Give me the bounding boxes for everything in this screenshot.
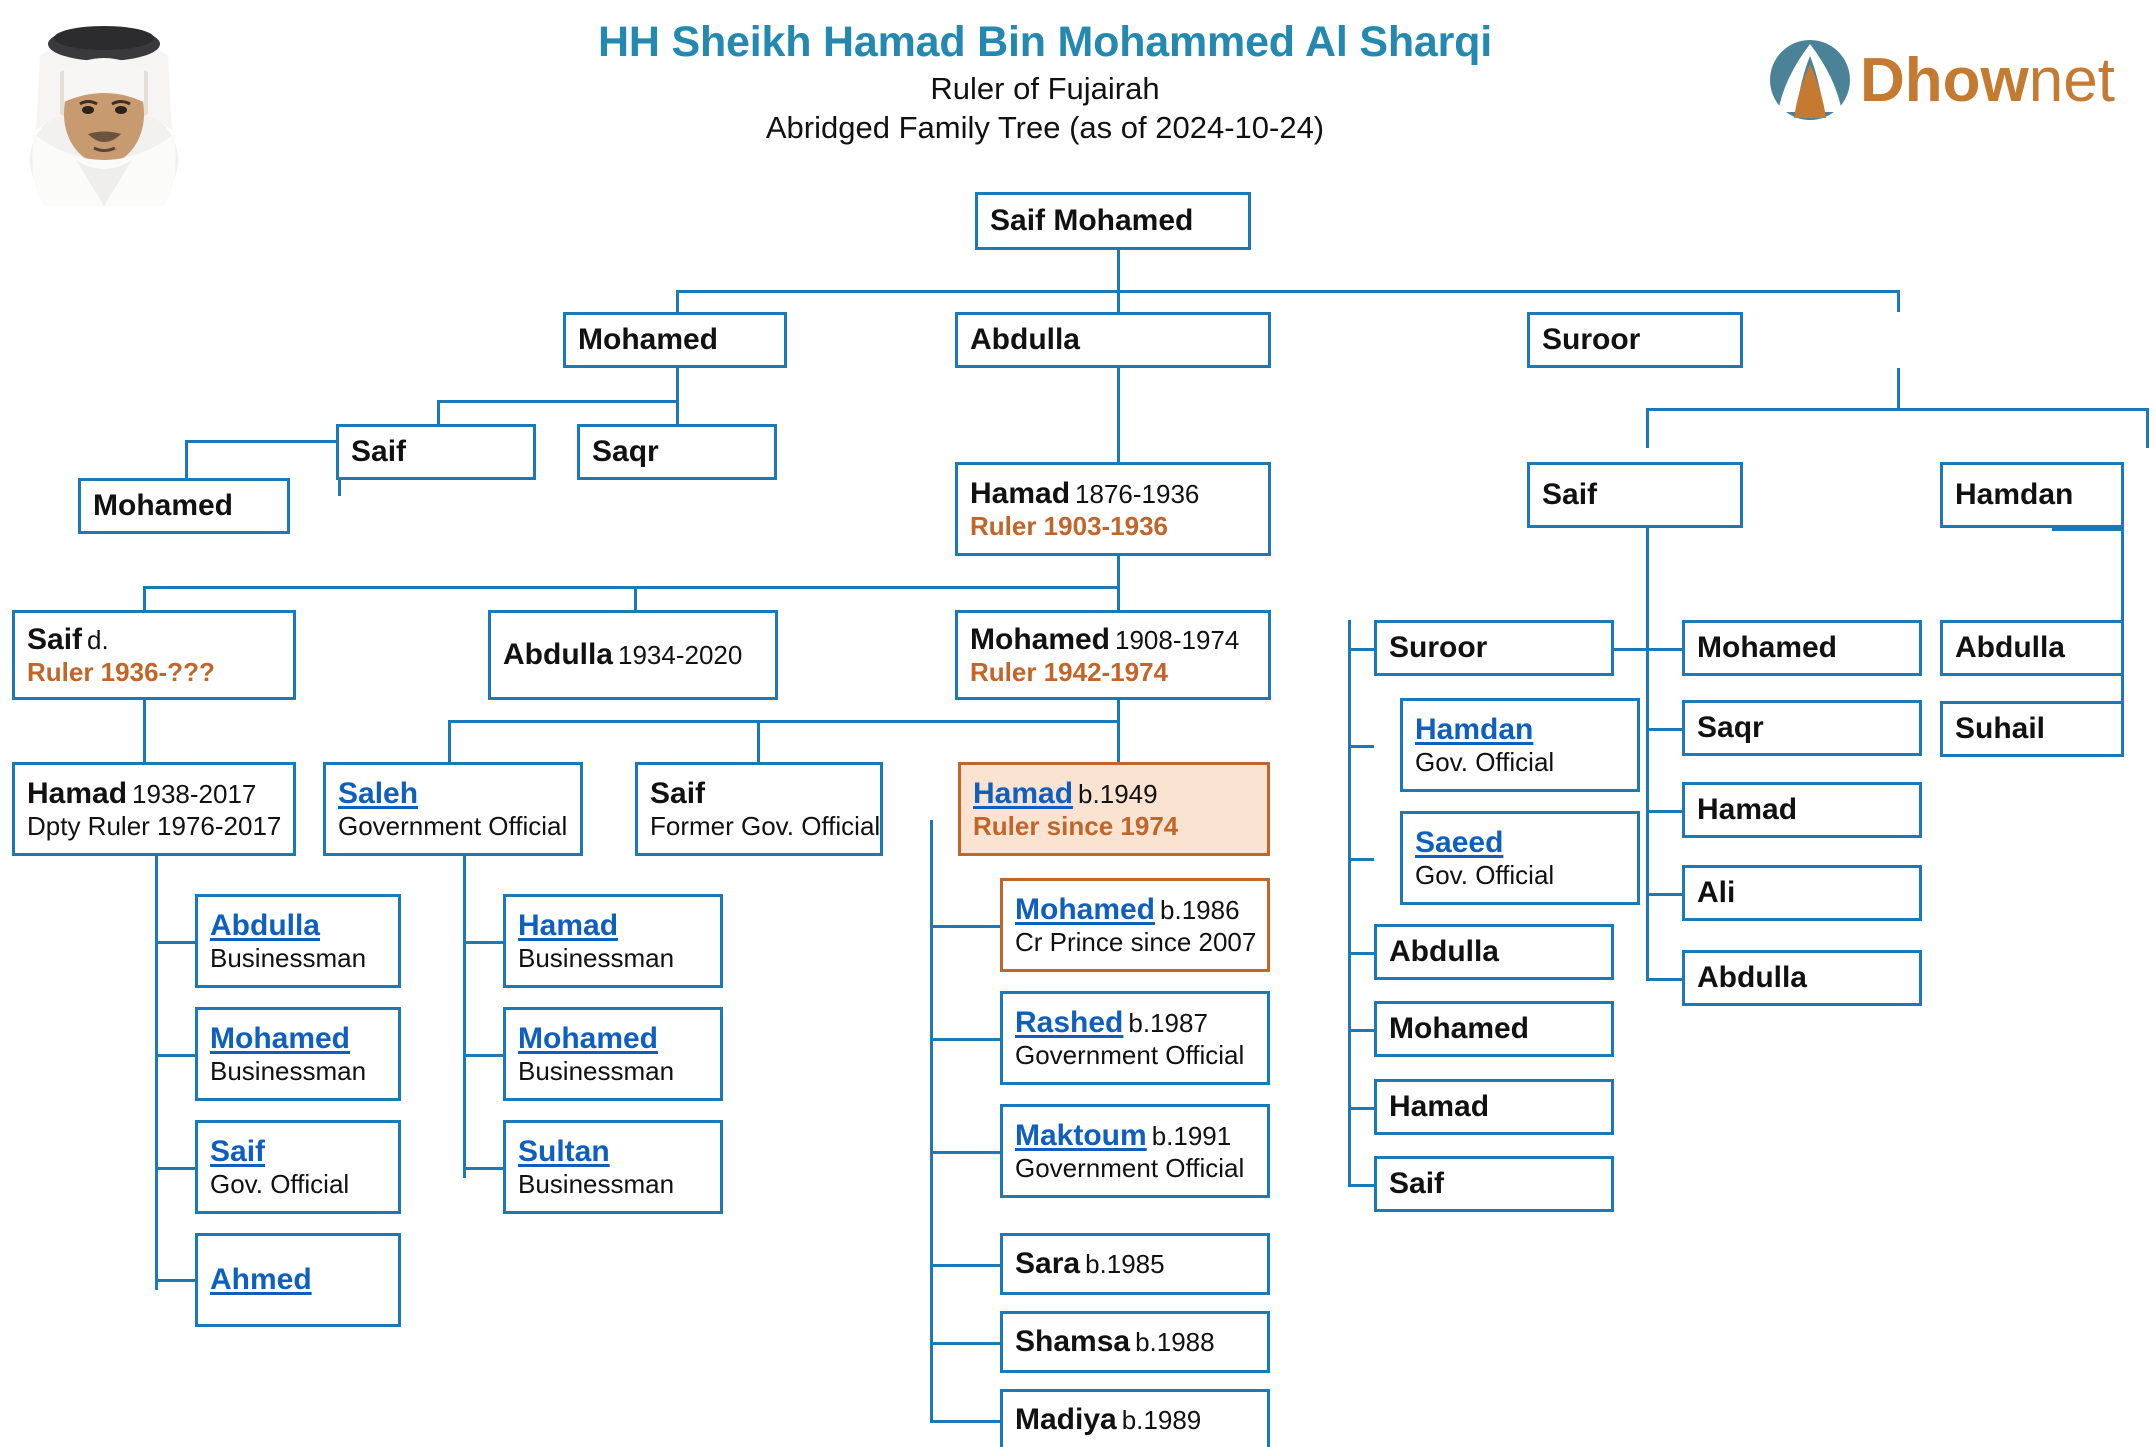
connector (2146, 408, 2149, 448)
node-name: Saif (650, 777, 705, 810)
connector (463, 1054, 503, 1057)
node-name[interactable]: Hamad (973, 777, 1073, 810)
connector (1117, 250, 1120, 292)
node-saeed-gov-official[interactable]: Saeed Gov. Official (1400, 811, 1640, 905)
connector (1646, 408, 2146, 411)
connector (634, 586, 637, 610)
connector (1348, 858, 1374, 861)
node-hamdan-suroor-branch[interactable]: Hamdan (1940, 462, 2124, 528)
connector (930, 925, 1000, 928)
connector (143, 586, 1119, 589)
node-occupation: Government Official (1015, 1153, 1244, 1183)
node-sara[interactable]: Sarab.1985 (1000, 1233, 1270, 1295)
connector (437, 400, 679, 403)
node-occupation: Businessman (518, 943, 674, 973)
node-hamad-businessman[interactable]: Hamad Businessman (503, 894, 723, 988)
connector (143, 586, 146, 610)
node-mohamed-1908[interactable]: Mohamed1908-1974 Ruler 1942-1974 (955, 610, 1271, 700)
node-name: Saif (351, 435, 406, 468)
node-name[interactable]: Hamdan (1415, 713, 1533, 746)
node-name: Hamad (27, 777, 127, 810)
connector (676, 290, 679, 312)
node-name: Mohamed (1697, 631, 1837, 664)
connector (463, 856, 466, 1178)
page-subtitle-date: Abridged Family Tree (as of 2024-10-24) (330, 109, 1760, 148)
node-occupation: Government Official (338, 811, 567, 841)
connector (1117, 290, 1120, 312)
node-name[interactable]: Mohamed (518, 1022, 658, 1055)
connector (930, 1264, 1000, 1267)
node-saqr-right-2[interactable]: Saqr (1682, 700, 1922, 756)
family-tree-canvas: HH Sheikh Hamad Bin Mohammed Al Sharqi R… (0, 0, 2156, 1447)
connector (757, 720, 760, 762)
node-mohamed-businessman[interactable]: Mohamed Businessman (195, 1007, 401, 1101)
connector (1348, 1029, 1374, 1032)
node-name[interactable]: Saleh (338, 777, 418, 810)
node-name: Suroor (1542, 323, 1640, 356)
node-role: Ruler 1903-1936 (970, 511, 1168, 541)
node-years: b.1991 (1152, 1121, 1232, 1151)
connector (1646, 648, 1649, 980)
node-years: b.1985 (1085, 1249, 1165, 1279)
connector (448, 720, 451, 762)
node-name: Abdulla (1389, 935, 1499, 968)
node-abdulla-right-5[interactable]: Abdulla (1682, 950, 1922, 1006)
connector (1646, 978, 1682, 981)
connector (1897, 368, 1900, 408)
node-saif-mohamed[interactable]: Saif Mohamed (975, 192, 1251, 250)
connector (676, 290, 1900, 293)
node-years: 1938-2017 (132, 779, 256, 809)
node-suroor-child[interactable]: Suroor (1374, 620, 1614, 676)
node-years: b.1949 (1078, 779, 1158, 809)
node-years: b.1987 (1128, 1008, 1208, 1038)
node-name: Saif (1542, 478, 1597, 511)
connector (463, 1167, 503, 1170)
node-name[interactable]: Rashed (1015, 1006, 1123, 1039)
node-saleh[interactable]: Saleh Government Official (323, 762, 583, 856)
node-name: Ali (1697, 876, 1735, 909)
node-hamdan-gov-official[interactable]: Hamdan Gov. Official (1400, 698, 1640, 792)
node-sultan-businessman[interactable]: Sultan Businessman (503, 1120, 723, 1214)
node-rashed[interactable]: Rashedb.1987 Government Official (1000, 991, 1270, 1085)
ruler-portrait (20, 10, 188, 206)
node-occupation: Government Official (1015, 1040, 1244, 1070)
logo-wordmark: Dhownet (1860, 42, 2115, 120)
connector (1117, 586, 1120, 610)
node-years: 1908-1974 (1115, 625, 1239, 655)
connector (930, 1342, 1000, 1345)
node-abdulla-g1[interactable]: Abdulla (955, 312, 1271, 368)
node-name[interactable]: Abdulla (210, 909, 320, 942)
node-name[interactable]: Mohamed (1015, 893, 1155, 926)
node-hamad-1949-current-ruler[interactable]: Hamadb.1949 Ruler since 1974 (958, 762, 1270, 856)
node-years: 1876-1936 (1075, 479, 1199, 509)
connector (1897, 290, 1900, 312)
connector (155, 1279, 195, 1282)
node-name[interactable]: Saif (210, 1135, 265, 1168)
node-mohamed-businessman-2[interactable]: Mohamed Businessman (503, 1007, 723, 1101)
node-occupation: Businessman (518, 1169, 674, 1199)
connector (1646, 528, 1649, 650)
node-saqr-g2[interactable]: Saqr (577, 424, 777, 480)
node-name: Mohamed (578, 323, 718, 356)
node-occupation: Gov. Official (210, 1169, 349, 1199)
node-name: Mohamed (970, 623, 1110, 656)
connector (1646, 648, 1682, 651)
connector (1117, 556, 1120, 586)
connector (155, 856, 158, 1290)
node-name: Saqr (592, 435, 659, 468)
node-mohamed-saif-child[interactable]: Mohamed (1374, 1001, 1614, 1057)
node-name[interactable]: Hamad (518, 909, 618, 942)
node-hamad-1876[interactable]: Hamad1876-1936 Ruler 1903-1936 (955, 462, 1271, 556)
node-mohamed-crown-prince[interactable]: Mohamedb.1986 Cr Prince since 2007 (1000, 878, 1270, 972)
dhow-logo-icon (1768, 38, 1852, 122)
node-suhail-hamdan-child[interactable]: Suhail (1940, 701, 2124, 757)
connector (1348, 745, 1374, 748)
node-years: b.1988 (1135, 1327, 1215, 1357)
node-abdulla-businessman[interactable]: Abdulla Businessman (195, 894, 401, 988)
node-years: 1934-2020 (618, 640, 742, 670)
node-ali-right-4[interactable]: Ali (1682, 865, 1922, 921)
node-occupation: Dpty Ruler 1976-2017 (27, 811, 281, 841)
node-name: Hamad (1697, 793, 1797, 826)
node-occupation: Cr Prince since 2007 (1015, 927, 1256, 957)
connector (930, 1151, 1000, 1154)
connector (1646, 408, 1649, 448)
node-role: Ruler 1936-??? (27, 657, 215, 687)
title-block: HH Sheikh Hamad Bin Mohammed Al Sharqi R… (330, 18, 1760, 148)
connector (930, 820, 933, 1420)
node-name: Hamad (1389, 1090, 1489, 1123)
node-name[interactable]: Ahmed (210, 1263, 312, 1296)
node-hamad-saif-child[interactable]: Hamad (1374, 1079, 1614, 1135)
page-subtitle: Ruler of Fujairah (330, 70, 1760, 109)
node-madiya[interactable]: Madiyab.1989 (1000, 1389, 1270, 1447)
node-suroor-g1[interactable]: Suroor (1527, 312, 1743, 368)
page-title: HH Sheikh Hamad Bin Mohammed Al Sharqi (330, 18, 1760, 66)
connector (143, 700, 146, 762)
node-mohamed-g3[interactable]: Mohamed (78, 478, 290, 534)
node-name: Saif (1389, 1167, 1444, 1200)
logo-text-light: net (2029, 46, 2115, 115)
node-name: Hamad (970, 477, 1070, 510)
node-name: Abdulla (503, 638, 613, 671)
connector (930, 1038, 1000, 1041)
connector (1348, 620, 1351, 1184)
node-name: Saif Mohamed (990, 204, 1193, 237)
node-name: Abdulla (1697, 961, 1807, 994)
connector (930, 1420, 1000, 1423)
node-name: Suhail (1955, 712, 2045, 745)
node-name: Abdulla (1955, 631, 2065, 664)
node-occupation: Former Gov. Official (650, 811, 880, 841)
node-name[interactable]: Sultan (518, 1135, 610, 1168)
node-saif-former-official[interactable]: Saif Former Gov. Official (635, 762, 883, 856)
node-saif-suroor-branch[interactable]: Saif (1527, 462, 1743, 528)
dhownet-logo[interactable]: Dhownet (1768, 38, 2148, 124)
node-name[interactable]: Mohamed (210, 1022, 350, 1055)
node-abdulla-1934[interactable]: Abdulla1934-2020 (488, 610, 778, 700)
node-maktoum[interactable]: Maktoumb.1991 Government Official (1000, 1104, 1270, 1198)
node-name: Mohamed (1389, 1012, 1529, 1045)
node-name: Abdulla (970, 323, 1080, 356)
connector (155, 1167, 195, 1170)
node-role: Ruler 1942-1974 (970, 657, 1168, 687)
node-name: Mohamed (93, 489, 233, 522)
logo-text-bold: Dhow (1860, 46, 2029, 115)
node-mohamed-right-1[interactable]: Mohamed (1682, 620, 1922, 676)
node-saif-gov-official[interactable]: Saif Gov. Official (195, 1120, 401, 1214)
connector (1117, 700, 1120, 720)
node-name: Suroor (1389, 631, 1487, 664)
node-saif-1936[interactable]: Saifd. Ruler 1936-??? (12, 610, 296, 700)
connector (155, 941, 195, 944)
connector (463, 941, 503, 944)
connector (1646, 810, 1682, 813)
node-abdulla-saif-child[interactable]: Abdulla (1374, 924, 1614, 980)
node-ahmed[interactable]: Ahmed (195, 1233, 401, 1327)
node-name: Madiya (1015, 1403, 1117, 1436)
node-name[interactable]: Maktoum (1015, 1119, 1147, 1152)
node-hamad-1938[interactable]: Hamad1938-2017 Dpty Ruler 1976-2017 (12, 762, 296, 856)
node-occupation: Businessman (210, 943, 366, 973)
connector (1348, 952, 1374, 955)
connector (676, 368, 679, 400)
node-mohamed-g1[interactable]: Mohamed (563, 312, 787, 368)
node-saif-saif-child[interactable]: Saif (1374, 1156, 1614, 1212)
node-years: d. (87, 625, 109, 655)
node-name: Shamsa (1015, 1325, 1130, 1358)
connector (1646, 893, 1682, 896)
connector (1117, 720, 1120, 762)
node-abdulla-hamdan-child[interactable]: Abdulla (1940, 620, 2124, 676)
connector (1348, 648, 1374, 651)
node-occupation: Businessman (210, 1056, 366, 1086)
node-occupation: Gov. Official (1415, 747, 1554, 777)
node-shamsa[interactable]: Shamsab.1988 (1000, 1311, 1270, 1373)
connector (155, 1054, 195, 1057)
connector (1348, 1184, 1374, 1187)
node-saif-g2[interactable]: Saif (336, 424, 536, 480)
node-years: b.1986 (1160, 895, 1240, 925)
connector (2052, 528, 2124, 531)
node-role: Ruler since 1974 (973, 811, 1178, 841)
connector (1348, 1107, 1374, 1110)
connector (1646, 728, 1682, 731)
node-occupation: Gov. Official (1415, 860, 1554, 890)
node-name[interactable]: Saeed (1415, 826, 1503, 859)
node-years: b.1989 (1122, 1405, 1202, 1435)
connector (185, 440, 341, 443)
connector (448, 720, 1120, 723)
connector (1117, 368, 1120, 468)
node-occupation: Businessman (518, 1056, 674, 1086)
node-name: Sara (1015, 1247, 1080, 1280)
node-name: Saif (27, 623, 82, 656)
node-name: Hamdan (1955, 478, 2073, 511)
node-name: Saqr (1697, 711, 1764, 744)
node-hamad-right-3[interactable]: Hamad (1682, 782, 1922, 838)
